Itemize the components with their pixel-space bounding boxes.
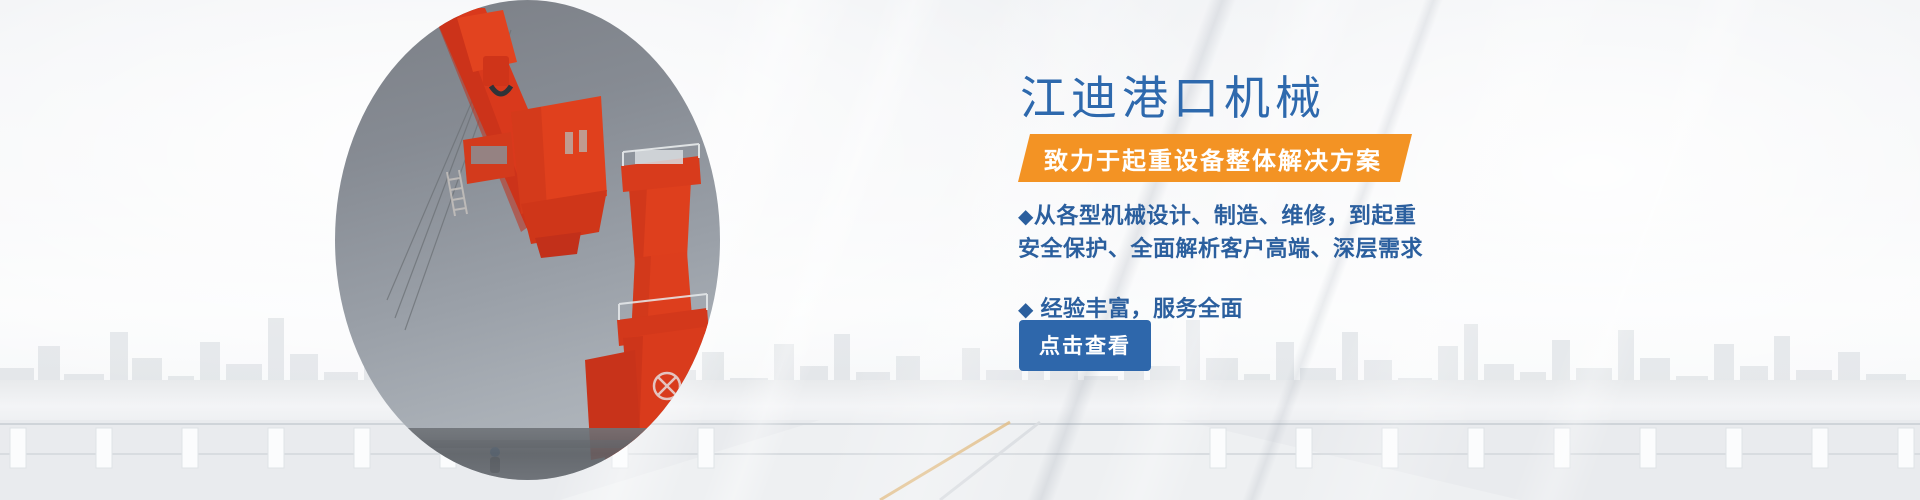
list-item: ◆从各型机械设计、制造、维修，到起重 安全保护、全面解析客户高端、深层需求	[1018, 200, 1818, 264]
port-crane-photo	[335, 0, 720, 480]
list-item-line: 安全保护、全面解析客户高端、深层需求	[1018, 233, 1818, 264]
view-details-button[interactable]: 点击查看	[1019, 320, 1151, 371]
page-title: 江迪港口机械	[1020, 62, 1326, 128]
list-item-line: 从各型机械设计、制造、维修，到起重	[1034, 203, 1417, 228]
feature-list: ◆从各型机械设计、制造、维修，到起重 安全保护、全面解析客户高端、深层需求 ◆ …	[1018, 200, 1818, 325]
tagline-text: 致力于起重设备整体解决方案	[1044, 141, 1382, 176]
tagline-ribbon: 致力于起重设备整体解决方案	[1018, 134, 1412, 182]
list-item-line: 经验丰富，服务全面	[1041, 296, 1244, 321]
diamond-icon: ◆	[1018, 206, 1034, 228]
banner-content: 江迪港口机械 致力于起重设备整体解决方案 ◆从各型机械设计、制造、维修，到起重 …	[1018, 0, 1848, 500]
diamond-icon: ◆	[1018, 299, 1034, 321]
hero-banner: 江迪港口机械 致力于起重设备整体解决方案 ◆从各型机械设计、制造、维修，到起重 …	[0, 0, 1920, 500]
